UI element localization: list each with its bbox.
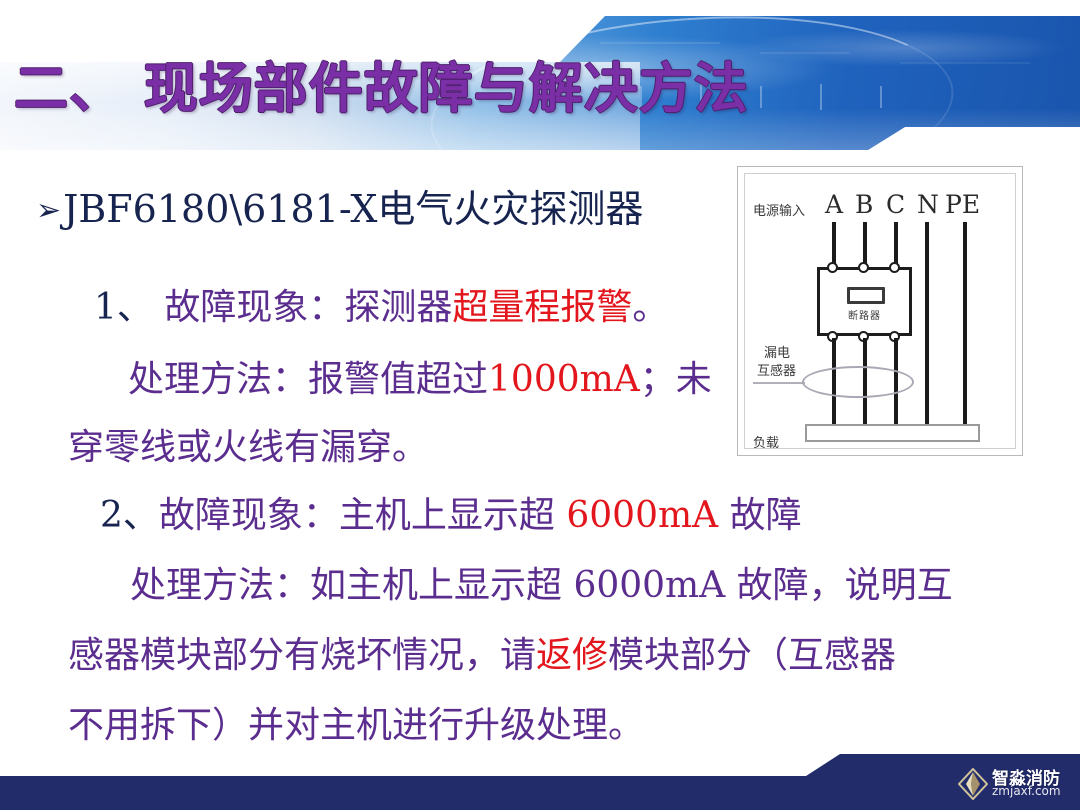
diagram-ct-label-line1: 漏电 [764,342,790,361]
page-title: 二、 现场部件故障与解决方法 [14,62,749,116]
slide-canvas: 二、 现场部件故障与解决方法 ➢JBF6180\6181-X电气火灾探测器 1、… [0,0,1080,810]
solution-1-row-b: 穿零线或火线有漏穿。 [68,430,428,466]
diagram-wire-PE [963,222,967,426]
diagram-ct-ellipse [802,366,914,398]
watermark-logo-url: zmjaxf.com [992,784,1061,798]
diagram-terminal-B-in [858,262,869,273]
arrow-bullet-icon: ➢ [36,193,61,228]
diagram-phase-label-N: N [917,192,939,217]
wiring-diagram: 电源输入 A B C N PE 断路器 [737,166,1023,456]
diagram-terminal-C-in [889,262,900,273]
content-heading-text: JBF6180\6181-X电气火灾探测器 [63,187,643,231]
diagram-phase-label-C: C [886,192,905,217]
solution-2-row-b: 感器模块部分有烧坏情况，请返修模块部分（互感器 [68,638,896,674]
wiring-diagram-inner-frame: 电源输入 A B C N PE 断路器 [744,173,1016,449]
solution-2-row-c: 不用拆下）并对主机进行升级处理。 [68,708,644,744]
diagram-load-bar [805,424,980,442]
fault-item-2-seg-2: 故障 [718,495,801,536]
diagram-ct-label-line2: 互感器 [757,360,796,379]
watermark-logo: 智淼消防 zmjaxf.com [958,764,1076,804]
solution-2b-seg-0: 感器模块部分有烧坏情况，请 [68,635,536,676]
diagram-load-label: 负载 [753,432,779,451]
diagram-breaker-label: 断路器 [848,307,881,322]
footer-navy-bar [0,740,1080,810]
fault-item-2-row: 2、故障现象：主机上显示超 6000mA 故障 [100,498,802,534]
fault-item-1-seg-2: 。 [632,287,668,328]
diagram-terminal-A-in [827,262,838,273]
logo-diamond-icon [958,768,988,800]
diagram-phase-label-B: B [855,192,873,217]
fault-item-1-seg-0: 故障现象：探测器 [153,287,452,328]
solution-2b-seg-1: 返修 [536,635,608,676]
fault-item-2-seg-1: 6000mA [566,495,718,536]
solution-2a-seg-0: 处理方法：如主机上显示超 6000mA 故障，说明互 [130,565,953,606]
solution-2-row-a: 处理方法：如主机上显示超 6000mA 故障，说明互 [130,568,953,604]
fault-item-1-row: 1、 故障现象：探测器超量程报警。 [94,290,668,326]
solution-1b-seg-0: 穿零线或火线有漏穿。 [68,427,428,468]
solution-2b-seg-2: 模块部分（互感器 [608,635,896,676]
fault-item-2-number: 2、 [100,495,159,536]
solution-1a-seg-0: 处理方法：报警值超过 [128,359,488,400]
solution-1-row-a: 处理方法：报警值超过1000mA；未 [128,362,712,398]
slide-footer [0,740,1080,810]
slide-header-banner: 二、 现场部件故障与解决方法 [0,0,1080,150]
diagram-ct-lead-line [753,382,805,384]
diagram-wire-N [925,222,929,426]
fault-item-1-number: 1、 [94,287,153,328]
diagram-phase-label-A: A [825,192,843,217]
fault-item-2-seg-0: 故障现象：主机上显示超 [159,495,566,536]
fault-item-1-seg-1: 超量程报警 [452,287,632,328]
solution-1a-seg-2: ；未 [640,359,712,400]
diagram-breaker-window [847,287,885,304]
content-heading-row: ➢JBF6180\6181-X电气火灾探测器 [36,190,643,228]
diagram-power-input-label: 电源输入 [753,200,805,219]
solution-1a-seg-1: 1000mA [488,359,640,400]
diagram-phase-label-PE: PE [945,192,980,217]
